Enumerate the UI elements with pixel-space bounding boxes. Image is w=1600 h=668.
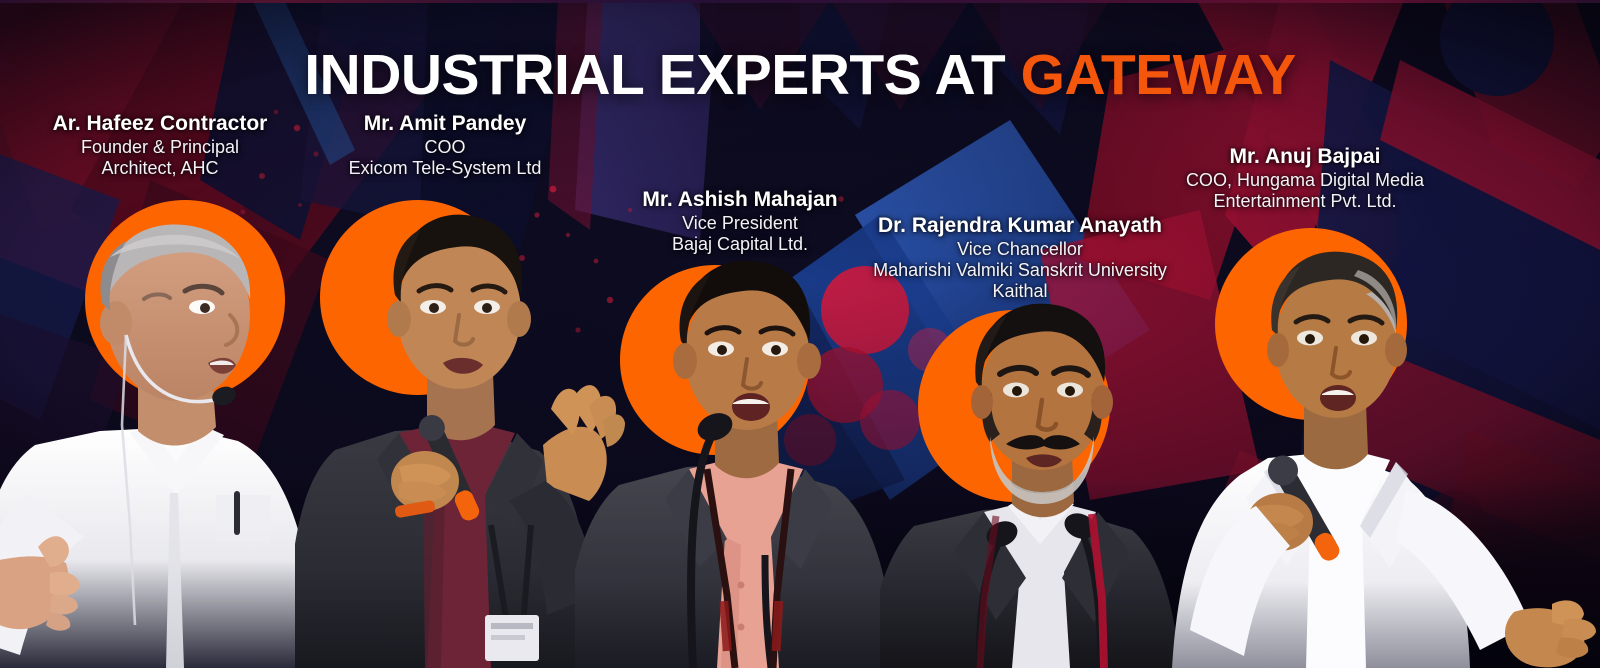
speaker-role-line-2: Maharishi Valmiki Sanskrit University — [850, 260, 1190, 281]
speaker-label-rajendra-kumar-anayath: Dr. Rajendra Kumar Anayath Vice Chancell… — [850, 214, 1190, 302]
speaker-label-anuj-bajpai: Mr. Anuj Bajpai COO, Hungama Digital Med… — [1155, 145, 1455, 212]
speaker-label-amit-pandey: Mr. Amit Pandey COO Exicom Tele-System L… — [320, 112, 570, 179]
speaker-role-line-2: Entertainment Pvt. Ltd. — [1155, 191, 1455, 212]
speaker-role-line-2: Exicom Tele-System Ltd — [320, 158, 570, 179]
event-speaker-banner: INDUSTRIAL EXPERTS AT GATEWAY — [0, 0, 1600, 668]
portrait-image-anuj-bajpai — [1140, 220, 1600, 668]
speaker-portrait-ashish-mahajan — [575, 255, 905, 668]
title-accent: GATEWAY — [1021, 43, 1296, 107]
speaker-role-line-1: Founder & Principal — [0, 137, 320, 158]
speaker-name: Mr. Anuj Bajpai — [1155, 145, 1455, 170]
speaker-name: Ar. Hafeez Contractor — [0, 112, 320, 137]
speaker-name: Mr. Amit Pandey — [320, 112, 570, 137]
speaker-role-line-1: Vice Chancellor — [850, 239, 1190, 260]
speaker-portrait-anuj-bajpai — [1140, 220, 1600, 668]
speaker-role-line-1: COO, Hungama Digital Media — [1155, 170, 1455, 191]
speaker-name: Dr. Rajendra Kumar Anayath — [850, 214, 1190, 239]
title-main: INDUSTRIAL EXPERTS AT — [304, 43, 1020, 107]
speaker-name: Mr. Ashish Mahajan — [615, 188, 865, 213]
speaker-role-line-1: COO — [320, 137, 570, 158]
portrait-image-ashish-mahajan — [575, 255, 905, 668]
speaker-role-line-2: Architect, AHC — [0, 158, 320, 179]
speaker-role-line-3: Kaithal — [850, 281, 1190, 302]
speaker-role-line-1: Vice President — [615, 213, 865, 234]
speaker-label-ashish-mahajan: Mr. Ashish Mahajan Vice President Bajaj … — [615, 188, 865, 255]
speaker-label-hafeez-contractor: Ar. Hafeez Contractor Founder & Principa… — [0, 112, 320, 179]
banner-title: INDUSTRIAL EXPERTS AT GATEWAY — [0, 47, 1600, 104]
top-accent-line — [0, 0, 1600, 3]
speaker-role-line-2: Bajaj Capital Ltd. — [615, 234, 865, 255]
